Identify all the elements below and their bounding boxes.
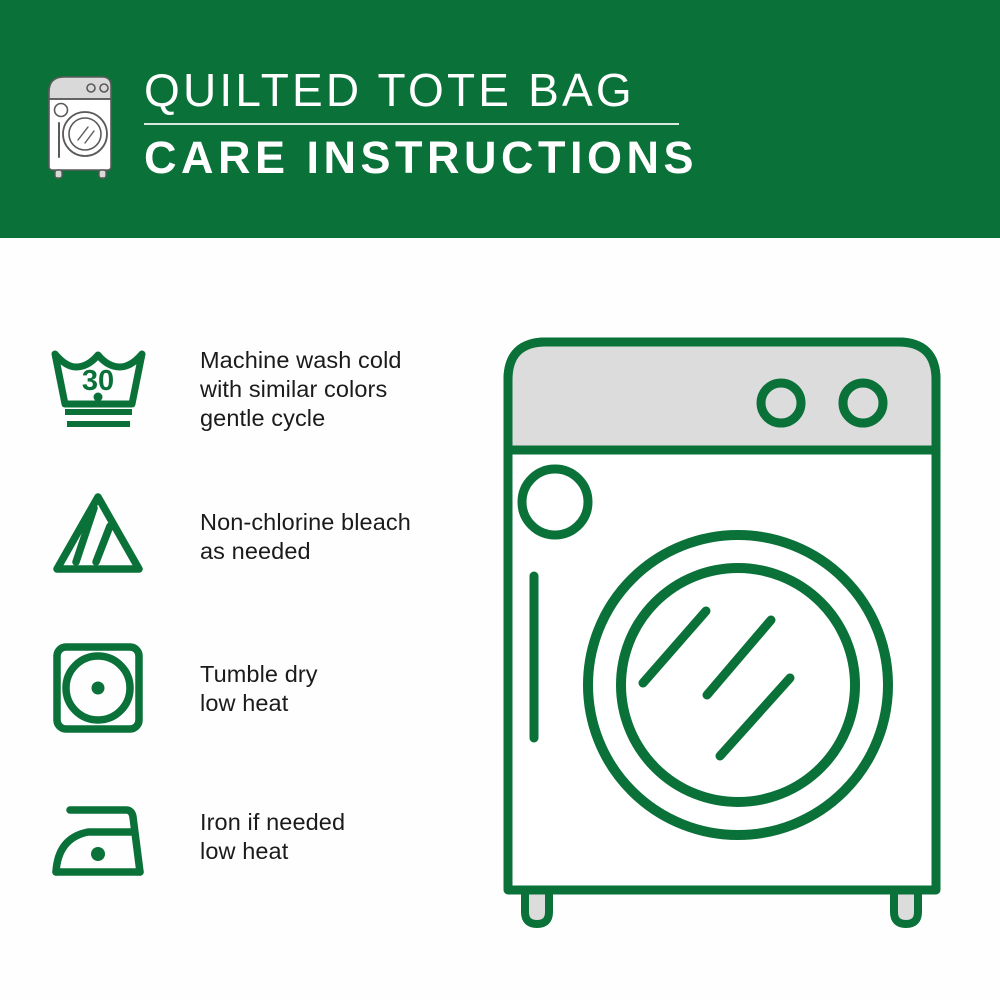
washing-machine-icon <box>44 70 122 180</box>
care-row-tumble-dry: Tumble dry low heat <box>48 638 478 738</box>
care-text-machine-wash: Machine wash cold with similar colors ge… <box>200 340 402 433</box>
control-panel <box>508 342 936 450</box>
page-title: QUILTED TOTE BAG <box>144 62 698 118</box>
wash-tub-30-gentle-icon: 30 <box>48 340 158 440</box>
care-row-iron: Iron if needed low heat <box>48 790 478 890</box>
care-text-bleach: Non-chlorine bleach as needed <box>200 486 411 566</box>
care-text-tumble-dry: Tumble dry low heat <box>200 638 318 718</box>
title-divider <box>144 123 679 125</box>
non-chlorine-bleach-triangle-icon <box>48 486 158 586</box>
care-row-machine-wash: 30 Machine wash cold with similar colors… <box>48 340 478 440</box>
care-text-iron: Iron if needed low heat <box>200 790 345 866</box>
header-band: QUILTED TOTE BAG CARE INSTRUCTIONS <box>0 0 1000 238</box>
header-title-group: QUILTED TOTE BAG CARE INSTRUCTIONS <box>144 62 698 185</box>
front-load-washing-machine-illustration <box>480 320 980 940</box>
tumble-dry-low-heat-icon <box>48 638 158 738</box>
iron-heat-dot <box>91 847 105 861</box>
iron-low-heat-icon <box>48 790 158 890</box>
care-instructions-page: QUILTED TOTE BAG CARE INSTRUCTIONS 30 <box>0 0 1000 1000</box>
wash-dot <box>94 393 103 402</box>
wash-temperature-label: 30 <box>82 365 114 397</box>
header-content: QUILTED TOTE BAG CARE INSTRUCTIONS <box>44 62 698 185</box>
care-instruction-list: 30 Machine wash cold with similar colors… <box>0 238 480 1000</box>
dry-heat-dot <box>92 682 105 695</box>
page-subtitle: CARE INSTRUCTIONS <box>144 131 698 185</box>
care-row-bleach: Non-chlorine bleach as needed <box>48 486 478 586</box>
